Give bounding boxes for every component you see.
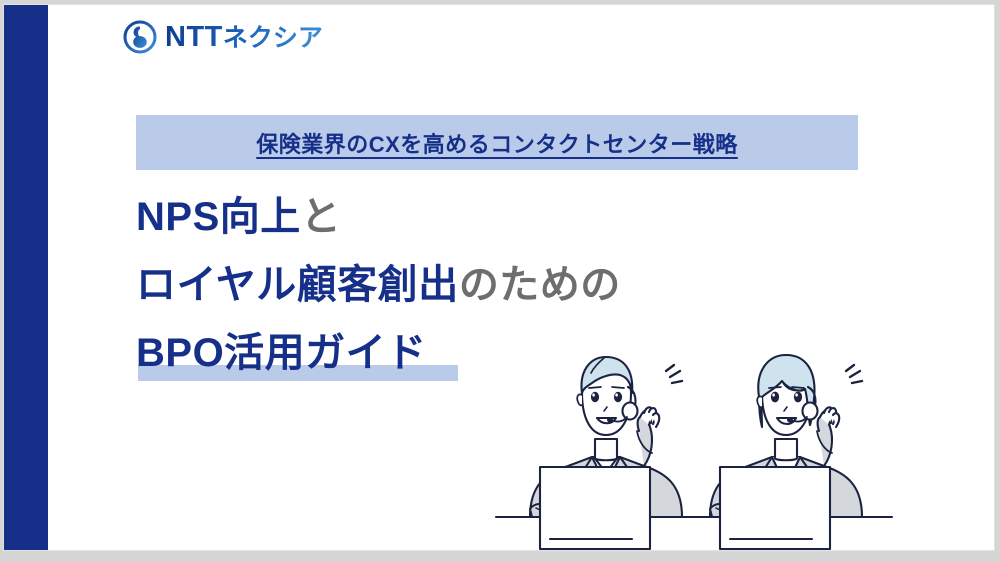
- headline-line-3-emphasis: BPO活用ガイド: [136, 331, 427, 375]
- headline-line-2: ロイヤル顧客創出のための: [136, 251, 696, 319]
- headline-line-1: NPS向上と: [136, 183, 696, 251]
- slide-canvas: NTTネクシア 保険業界のCXを高めるコンタクトセンター戦略 NPS向上と ロイ…: [0, 0, 1000, 562]
- logo-wordmark: NTTネクシア: [165, 23, 323, 52]
- call-center-operators-illustration: [494, 327, 894, 555]
- subtitle-banner-text: 保険業界のCXを高めるコンタクトセンター戦略: [256, 127, 738, 159]
- logo-brand-kana: ネクシア: [223, 24, 323, 52]
- slide-page: NTTネクシア 保険業界のCXを高めるコンタクトセンター戦略 NPS向上と ロイ…: [4, 5, 994, 550]
- headline-line-1-emphasis: NPS向上: [136, 195, 301, 239]
- headline-line-2-emphasis: ロイヤル顧客創出: [136, 263, 459, 307]
- left-accent-bar: [4, 5, 48, 550]
- subtitle-banner: 保険業界のCXを高めるコンタクトセンター戦略: [136, 115, 858, 170]
- headline-line-3: BPO活用ガイド: [136, 319, 427, 387]
- headline-line-2-tail: のための: [459, 263, 621, 307]
- headline-line-1-tail: と: [301, 195, 342, 239]
- logo-brand: NTT: [165, 21, 223, 53]
- ntt-circle-mark-icon: [122, 19, 158, 55]
- ntt-nexia-logo: NTTネクシア: [122, 17, 323, 57]
